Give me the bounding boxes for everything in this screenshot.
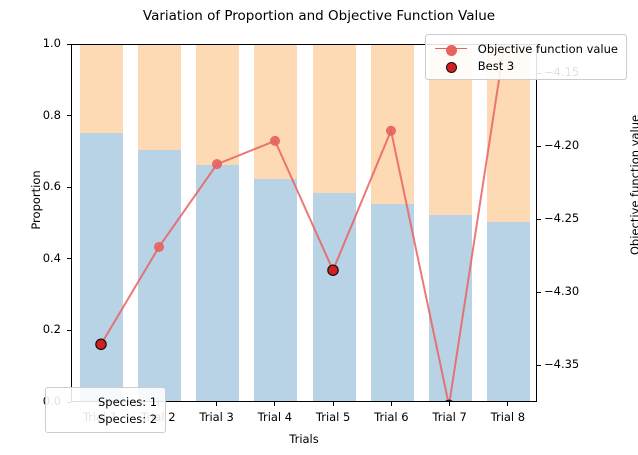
plot-area xyxy=(71,44,537,402)
species1-swatch-icon xyxy=(53,395,89,409)
legend-label-objective: Objective function value xyxy=(478,42,618,56)
y-tick-label-right: −4.25 xyxy=(544,211,592,225)
objective-line-layer xyxy=(72,45,536,401)
best3-marker[interactable] xyxy=(96,339,106,349)
legend-objective[interactable]: Objective function value Best 3 xyxy=(425,34,627,80)
x-tick xyxy=(274,402,275,406)
legend-label-best3: Best 3 xyxy=(478,59,514,73)
y-axis-label-left: Proportion xyxy=(29,140,43,260)
chart-figure: Variation of Proportion and Objective Fu… xyxy=(0,0,638,455)
legend-item-best3[interactable]: Best 3 xyxy=(433,57,618,74)
objective-marker[interactable] xyxy=(154,242,163,251)
y-tick-label-left: 1.0 xyxy=(21,36,61,50)
species2-swatch-icon xyxy=(53,412,89,426)
x-tick xyxy=(449,402,450,406)
line-marker-icon xyxy=(433,42,469,56)
x-tick xyxy=(391,402,392,406)
y-tick-right xyxy=(537,292,541,293)
best3-marker[interactable] xyxy=(328,265,338,275)
legend-item-objective[interactable]: Objective function value xyxy=(433,40,618,57)
y-tick-label-left: 0.2 xyxy=(21,322,61,336)
y-tick-left xyxy=(67,187,71,188)
x-tick-label: Trial 8 xyxy=(473,410,543,424)
x-axis-label: Trials xyxy=(71,432,537,446)
y-axis-label-right: Objective function value xyxy=(628,105,638,265)
y-tick-left xyxy=(67,115,71,116)
x-tick xyxy=(507,402,508,406)
objective-marker[interactable] xyxy=(212,160,221,169)
y-tick-right xyxy=(537,146,541,147)
y-tick-left xyxy=(67,44,71,45)
best3-marker[interactable] xyxy=(444,400,454,401)
y-tick-label-right: −4.35 xyxy=(544,357,592,371)
legend-label-species1: Species: 1 xyxy=(98,395,157,409)
legend-item-species1[interactable]: Species: 1 xyxy=(53,393,157,410)
objective-marker[interactable] xyxy=(386,126,395,135)
legend-species[interactable]: Species: 1 Species: 2 xyxy=(45,387,166,433)
y-tick-right xyxy=(537,219,541,220)
objective-marker[interactable] xyxy=(270,136,279,145)
circle-marker-icon xyxy=(433,59,469,73)
y-tick-label-right: −4.20 xyxy=(544,138,592,152)
legend-item-species2[interactable]: Species: 2 xyxy=(53,410,157,427)
objective-line xyxy=(101,45,507,401)
x-tick xyxy=(216,402,217,406)
y-tick-left xyxy=(67,258,71,259)
y-tick-label-right: −4.30 xyxy=(544,284,592,298)
y-tick-label-left: 0.8 xyxy=(21,108,61,122)
page-title: Variation of Proportion and Objective Fu… xyxy=(0,8,638,24)
x-tick xyxy=(333,402,334,406)
y-tick-left xyxy=(67,330,71,331)
legend-label-species2: Species: 2 xyxy=(98,412,157,426)
y-tick-right xyxy=(537,365,541,366)
